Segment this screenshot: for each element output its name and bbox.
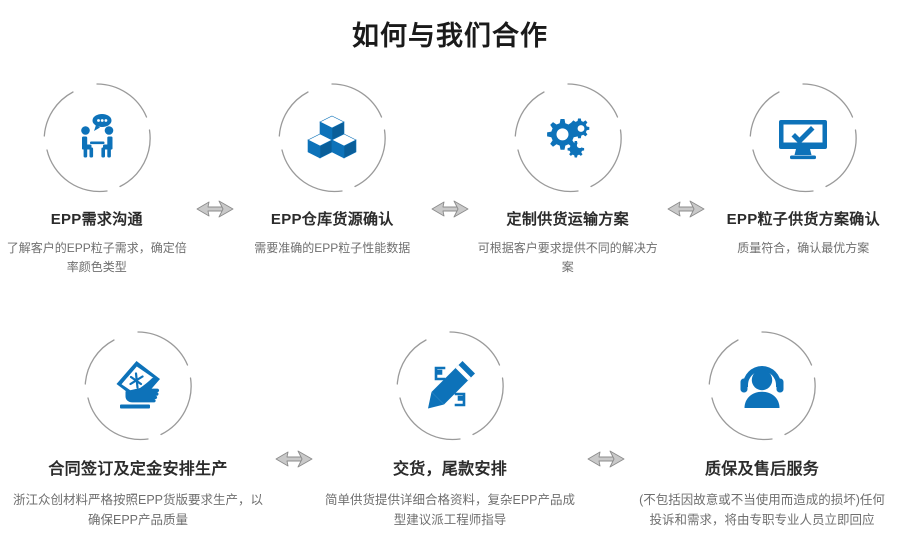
step-6-desc: 简单供货提供详细合格资料，复杂EPP产品成型建议派工程师指导 bbox=[325, 490, 575, 531]
double-arrow-right-icon bbox=[430, 198, 470, 220]
step-5-title: 合同签订及定金安排生产 bbox=[48, 460, 227, 481]
contract-stamp-hand-icon bbox=[110, 358, 166, 414]
step-1-title: EPP需求沟通 bbox=[51, 210, 143, 230]
step-2-title: EPP仓库货源确认 bbox=[271, 210, 394, 230]
step-separator-arrow bbox=[429, 82, 471, 220]
step-separator-arrow bbox=[194, 82, 236, 220]
double-arrow-right-icon bbox=[666, 198, 706, 220]
step-2-ring bbox=[276, 82, 388, 194]
headset-support-icon bbox=[734, 358, 790, 414]
double-arrow-right-icon bbox=[586, 448, 626, 470]
step-3-desc: 可根据客户要求提供不同的解决方案 bbox=[473, 239, 663, 279]
step-7-title: 质保及售后服务 bbox=[705, 460, 819, 481]
process-step-7[interactable]: 质保及售后服务 (不包括因故意或不当使用而造成的损坏)任何投诉和需求，将由专职专… bbox=[627, 330, 897, 531]
step-1-desc: 了解客户的EPP粒子需求，确定倍率颜色类型 bbox=[2, 239, 192, 279]
step-2-desc: 需要准确的EPP粒子性能数据 bbox=[254, 239, 410, 259]
step-4-desc: 质量符合，确认最优方案 bbox=[737, 239, 869, 259]
step-3-title: 定制供货运输方案 bbox=[507, 210, 629, 230]
step-6-title: 交货，尾款安排 bbox=[393, 460, 507, 481]
step-5-desc: 浙江众创材料严格按照EPP货版要求生产，以确保EPP产品质量 bbox=[13, 490, 263, 531]
process-step-4[interactable]: EPP粒子供货方案确认 质量符合，确认最优方案 bbox=[707, 82, 900, 258]
meeting-discussion-icon bbox=[69, 110, 125, 166]
step-4-title: EPP粒子供货方案确认 bbox=[727, 210, 880, 230]
process-step-5[interactable]: 合同签订及定金安排生产 浙江众创材料严格按照EPP货版要求生产，以确保EPP产品… bbox=[3, 330, 273, 531]
double-arrow-right-icon bbox=[195, 198, 235, 220]
monitor-check-icon bbox=[775, 110, 831, 166]
step-3-ring bbox=[512, 82, 624, 194]
process-step-3[interactable]: 定制供货运输方案 可根据客户要求提供不同的解决方案 bbox=[471, 82, 665, 278]
page-title: 如何与我们合作 bbox=[0, 14, 900, 53]
step-separator-arrow bbox=[665, 82, 707, 220]
process-row-1: EPP需求沟通 了解客户的EPP粒子需求，确定倍率颜色类型 bbox=[0, 82, 900, 278]
double-arrow-right-icon bbox=[274, 448, 314, 470]
step-7-desc: (不包括因故意或不当使用而造成的损坏)任何投诉和需求，将由专职专业人员立即回应 bbox=[637, 490, 887, 531]
process-step-6[interactable]: 交货，尾款安排 简单供货提供详细合格资料，复杂EPP产品成型建议派工程师指导 bbox=[315, 330, 585, 531]
process-row-2: 合同签订及定金安排生产 浙江众创材料严格按照EPP货版要求生产，以确保EPP产品… bbox=[0, 330, 900, 531]
step-separator-arrow bbox=[273, 330, 315, 470]
process-step-2[interactable]: EPP仓库货源确认 需要准确的EPP粒子性能数据 bbox=[236, 82, 430, 258]
step-4-ring bbox=[747, 82, 859, 194]
step-5-ring bbox=[82, 330, 194, 442]
step-6-ring bbox=[394, 330, 506, 442]
pencil-measure-icon bbox=[422, 358, 478, 414]
process-step-1[interactable]: EPP需求沟通 了解客户的EPP粒子需求，确定倍率颜色类型 bbox=[0, 82, 194, 278]
gears-settings-icon bbox=[540, 110, 596, 166]
step-7-ring bbox=[706, 330, 818, 442]
step-separator-arrow bbox=[585, 330, 627, 470]
warehouse-boxes-icon bbox=[304, 110, 360, 166]
step-1-ring bbox=[41, 82, 153, 194]
